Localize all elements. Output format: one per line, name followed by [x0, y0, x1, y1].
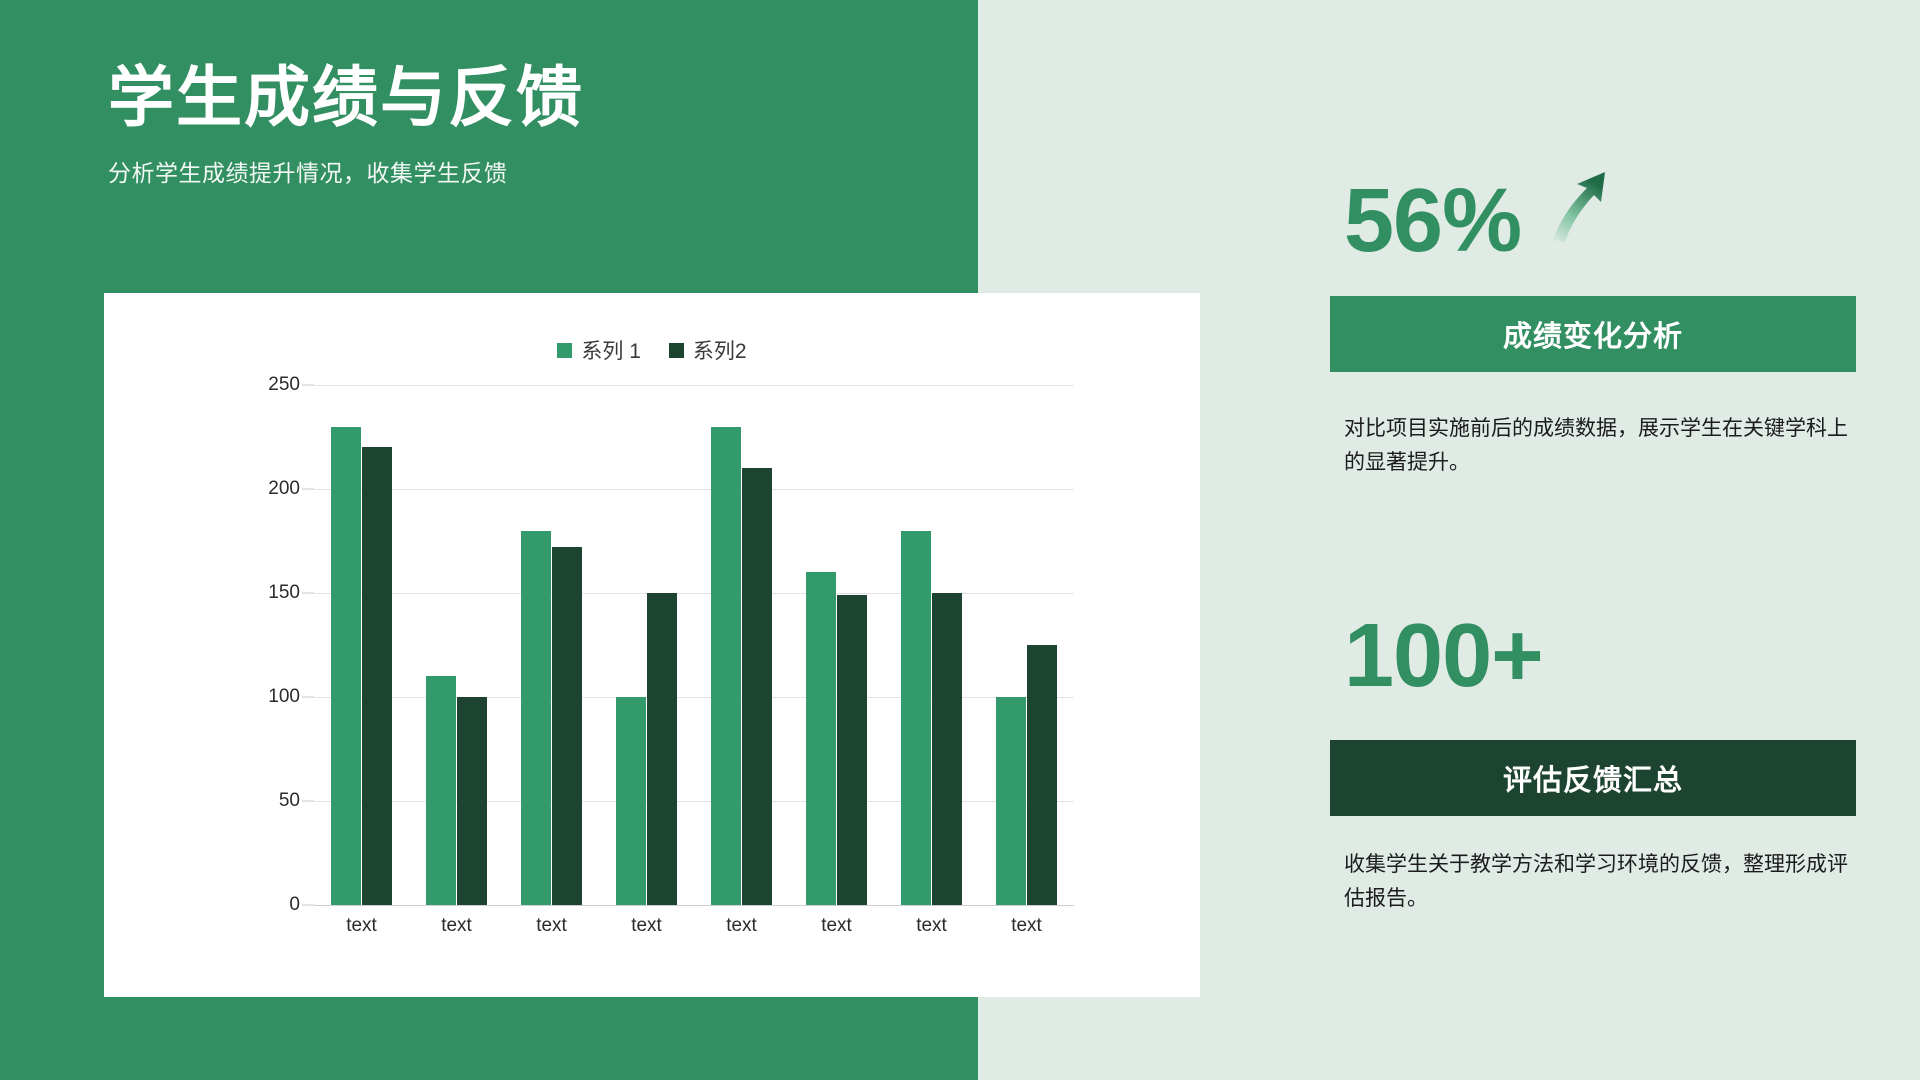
x-axis-label: text [521, 915, 582, 937]
legend-item-series-2[interactable]: 系列2 [669, 335, 747, 365]
y-axis-tick-mark [302, 593, 314, 594]
x-axis-label: text [901, 915, 962, 937]
legend-item-series-1[interactable]: 系列 1 [557, 335, 641, 365]
x-axis-label: text [426, 915, 487, 937]
x-axis-label: text [616, 915, 677, 937]
bar-group [901, 385, 962, 905]
bar-series-1[interactable] [901, 531, 931, 905]
stat-1-number-row: 56% [1344, 166, 1619, 275]
page-subtitle: 分析学生成绩提升情况，收集学生反馈 [108, 154, 928, 188]
bar-series-2[interactable] [457, 697, 487, 905]
banner-feedback-summary[interactable]: 评估反馈汇总 [1330, 740, 1856, 816]
legend-label-series-2: 系列2 [693, 335, 747, 365]
stat-block-2: 100+ [1344, 611, 1543, 701]
banner-grade-analysis[interactable]: 成绩变化分析 [1330, 296, 1856, 372]
bar-group [711, 385, 772, 905]
chart-plot-area: 050100150200250 texttexttexttexttexttext… [104, 385, 1200, 997]
bar-series-2[interactable] [932, 593, 962, 905]
stat-2-number-row: 100+ [1344, 611, 1543, 701]
y-axis-tick-mark [302, 801, 314, 802]
chart-bars [314, 385, 1074, 905]
legend-label-series-1: 系列 1 [581, 335, 641, 365]
x-axis-label: text [711, 915, 772, 937]
y-axis-tick-label: 100 [268, 686, 300, 708]
bar-series-2[interactable] [552, 547, 582, 905]
stat-2-value: 100+ [1344, 611, 1543, 701]
bar-group [426, 385, 487, 905]
stat-block-1: 56% [1344, 166, 1619, 275]
y-axis-tick-label: 250 [268, 374, 300, 396]
chart-y-axis: 050100150200250 [224, 385, 314, 905]
legend-swatch-series-1 [557, 343, 572, 358]
bar-series-1[interactable] [331, 427, 361, 905]
y-axis-tick-label: 0 [289, 894, 300, 916]
gridline [314, 905, 1074, 906]
legend-swatch-series-2 [669, 343, 684, 358]
bar-series-2[interactable] [647, 593, 677, 905]
header: 学生成绩与反馈 分析学生成绩提升情况，收集学生反馈 [108, 60, 928, 188]
bar-series-1[interactable] [806, 572, 836, 905]
y-axis-tick-label: 200 [268, 478, 300, 500]
bar-group [616, 385, 677, 905]
chart-x-axis: texttexttexttexttexttexttexttext [314, 915, 1074, 937]
bar-series-1[interactable] [426, 676, 456, 905]
up-arrow-icon [1539, 166, 1619, 261]
bar-group [331, 385, 392, 905]
y-axis-tick-label: 150 [268, 582, 300, 604]
bar-series-1[interactable] [711, 427, 741, 905]
bar-series-2[interactable] [742, 468, 772, 905]
y-axis-tick-mark [302, 905, 314, 906]
bar-group [521, 385, 582, 905]
x-axis-label: text [806, 915, 867, 937]
chart-legend: 系列 1 系列2 [104, 335, 1200, 365]
bar-series-2[interactable] [362, 447, 392, 905]
y-axis-tick-label: 50 [279, 790, 300, 812]
page-title: 学生成绩与反馈 [108, 60, 928, 136]
right-column: 56% 成绩变化分析 对比项目实施前后的成绩数据，展示学生在关键学科上的显著提升… [1330, 0, 1890, 1080]
bar-group [806, 385, 867, 905]
y-axis-tick-mark [302, 385, 314, 386]
y-axis-tick-mark [302, 489, 314, 490]
bar-series-2[interactable] [837, 595, 867, 905]
bar-series-2[interactable] [1027, 645, 1057, 905]
stat-1-value: 56% [1344, 176, 1521, 266]
x-axis-label: text [331, 915, 392, 937]
bar-series-1[interactable] [616, 697, 646, 905]
description-grade-analysis: 对比项目实施前后的成绩数据，展示学生在关键学科上的显著提升。 [1344, 412, 1856, 480]
bar-series-1[interactable] [521, 531, 551, 905]
x-axis-label: text [996, 915, 1057, 937]
y-axis-tick-mark [302, 697, 314, 698]
description-feedback-summary: 收集学生关于教学方法和学习环境的反馈，整理形成评估报告。 [1344, 848, 1856, 916]
bar-group [996, 385, 1057, 905]
bar-series-1[interactable] [996, 697, 1026, 905]
chart-card: 系列 1 系列2 050100150200250 texttexttexttex… [104, 293, 1200, 997]
